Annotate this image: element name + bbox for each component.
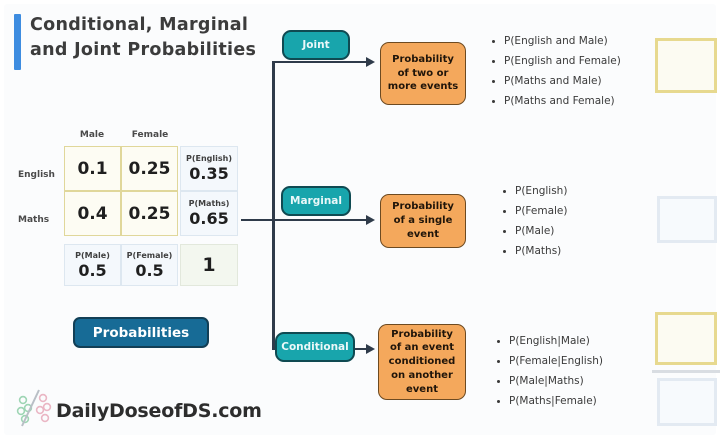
table-margin-english: P(English) 0.35 xyxy=(180,146,238,191)
list-item: P(Male|Maths) xyxy=(496,372,603,392)
table-margin-label: P(Female) xyxy=(127,251,173,260)
table-cell-english-female: 0.25 xyxy=(121,146,178,191)
brand-label: DailyDoseofDS.com xyxy=(56,400,262,422)
list-item: P(Female|English) xyxy=(496,352,603,372)
list-item: P(Maths|Female) xyxy=(496,392,603,412)
table-margin-label: P(English) xyxy=(186,154,232,163)
screenshot-canvas: Conditional, Marginal and Joint Probabil… xyxy=(0,0,720,439)
table-column-header-male: Male xyxy=(64,130,120,140)
arrowhead-marginal-icon xyxy=(366,215,375,225)
example-list-conditional: P(English|Male) P(Female|English) P(Male… xyxy=(496,332,603,412)
list-item: P(English) xyxy=(502,182,568,202)
table-margin-label: P(Maths) xyxy=(189,199,230,208)
table-cell-value: 0.25 xyxy=(129,159,171,179)
example-list-joint: P(English and Male) P(English and Female… xyxy=(491,32,621,112)
description-box-text: Probability of an event conditioned on a… xyxy=(384,328,460,397)
list-item: P(English and Male) xyxy=(491,32,621,52)
edge-frame-conditional-bottom xyxy=(657,378,717,426)
list-item: P(English|Male) xyxy=(496,332,603,352)
branch-pill-joint[interactable]: Joint xyxy=(282,30,350,60)
list-item: P(Maths and Female) xyxy=(491,92,621,112)
branch-pill-label: Joint xyxy=(302,39,329,51)
edge-frame-conditional-top xyxy=(655,312,717,365)
table-column-header-female: Female xyxy=(122,130,178,140)
connector-trunk xyxy=(272,61,275,349)
description-box-text: Probability of a single event xyxy=(386,200,460,241)
table-row-header-english: English xyxy=(18,170,66,180)
description-box-conditional: Probability of an event conditioned on a… xyxy=(378,324,466,400)
list-item: P(Maths) xyxy=(502,242,568,262)
table-margin-value: 0.5 xyxy=(78,261,106,280)
table-margin-value: 0.65 xyxy=(189,209,228,228)
list-item: P(Female) xyxy=(502,202,568,222)
connector-branch-joint xyxy=(272,61,368,63)
connector-branch-marginal xyxy=(272,219,368,221)
list-item: P(Maths and Male) xyxy=(491,72,621,92)
table-margin-maths: P(Maths) 0.65 xyxy=(180,191,238,236)
description-box-text: Probability of two or more events xyxy=(386,53,460,94)
table-margin-male: P(Male) 0.5 xyxy=(64,244,121,286)
slide-surface: Conditional, Marginal and Joint Probabil… xyxy=(4,4,716,435)
table-margin-value: 0.5 xyxy=(135,261,163,280)
description-box-marginal: Probability of a single event xyxy=(380,194,466,248)
scatter-plot-icon xyxy=(14,386,56,432)
arrowhead-conditional-icon xyxy=(366,344,375,354)
page-title: Conditional, Marginal and Joint Probabil… xyxy=(30,13,280,63)
table-margin-female: P(Female) 0.5 xyxy=(121,244,178,286)
probabilities-badge[interactable]: Probabilities xyxy=(73,317,209,348)
edge-frame-marginal xyxy=(657,196,717,243)
list-item: P(English and Female) xyxy=(491,52,621,72)
description-box-joint: Probability of two or more events xyxy=(380,42,466,105)
connector-feed-line xyxy=(241,219,275,221)
table-cell-value: 0.1 xyxy=(77,159,107,179)
probabilities-badge-label: Probabilities xyxy=(93,325,189,341)
branch-pill-conditional[interactable]: Conditional xyxy=(275,332,355,362)
arrowhead-joint-icon xyxy=(366,57,375,67)
edge-divider-rule xyxy=(652,370,720,373)
table-cell-maths-female: 0.25 xyxy=(121,191,178,236)
table-margin-label: P(Male) xyxy=(75,251,110,260)
table-row-header-maths: Maths xyxy=(18,215,66,225)
table-grand-total: 1 xyxy=(180,244,238,286)
table-cell-maths-male: 0.4 xyxy=(64,191,121,236)
title-accent-bar xyxy=(14,14,21,70)
list-item: P(Male) xyxy=(502,222,568,242)
branch-pill-marginal[interactable]: Marginal xyxy=(281,186,351,216)
branch-pill-label: Conditional xyxy=(281,341,349,353)
branch-pill-label: Marginal xyxy=(290,195,342,207)
table-total-value: 1 xyxy=(202,254,215,276)
table-cell-value: 0.4 xyxy=(77,204,107,224)
example-list-marginal: P(English) P(Female) P(Male) P(Maths) xyxy=(502,182,568,262)
table-cell-value: 0.25 xyxy=(129,204,171,224)
edge-frame-joint xyxy=(655,38,717,93)
table-margin-value: 0.35 xyxy=(189,164,228,183)
table-cell-english-male: 0.1 xyxy=(64,146,121,191)
